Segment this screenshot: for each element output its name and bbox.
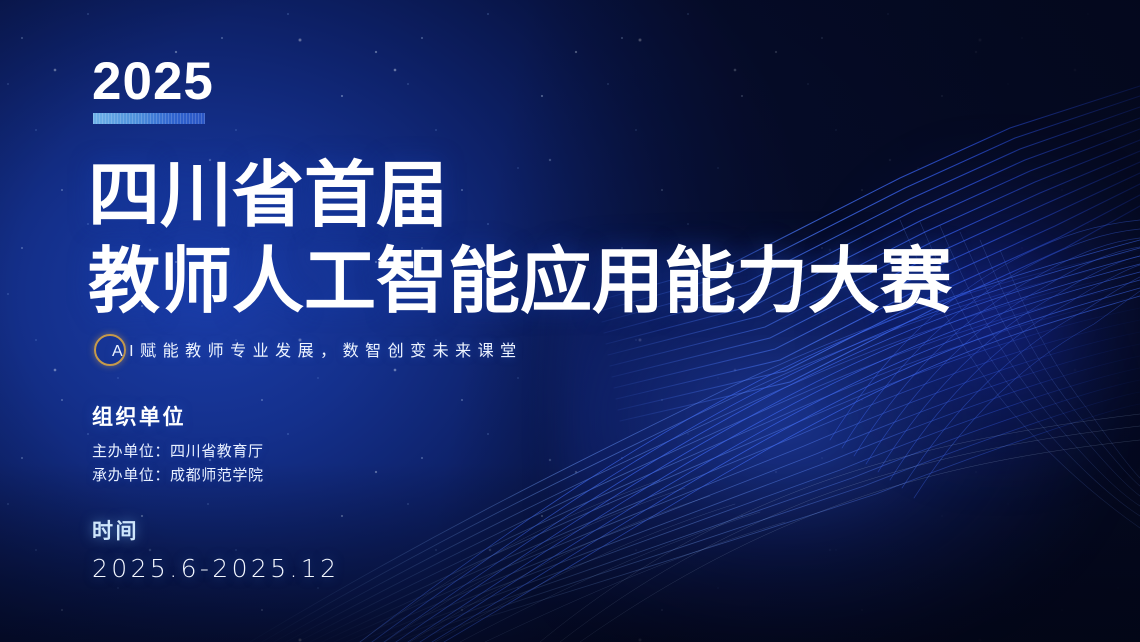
organizer-section: 组织单位 主办单位：四川省教育厅 承办单位：成都师范学院: [92, 404, 264, 488]
organizer-line-undertaker: 承办单位：成都师范学院: [92, 464, 264, 488]
event-poster: 2025 四川省首届 教师人工智能应用能力大赛 AI赋能教师专业发展，数智创变未…: [0, 0, 1140, 642]
organizer-heading: 组织单位: [92, 404, 264, 431]
title-line-1: 四川省首届: [88, 160, 448, 232]
accent-bar: [93, 113, 205, 124]
subtitle-row: AI赋能教师专业发展，数智创变未来课堂: [92, 334, 523, 364]
poster-content: 2025 四川省首届 教师人工智能应用能力大赛 AI赋能教师专业发展，数智创变未…: [92, 0, 1072, 642]
time-section: 时间 2025.6-2025.12: [92, 518, 339, 584]
organizer-line-host: 主办单位：四川省教育厅: [92, 440, 264, 464]
year-label: 2025: [92, 55, 214, 108]
time-heading: 时间: [92, 518, 339, 545]
time-range: 2025.6-2025.12: [92, 554, 339, 584]
title-line-2: 教师人工智能应用能力大赛: [88, 246, 952, 318]
subtitle-text: AI赋能教师专业发展，数智创变未来课堂: [92, 337, 523, 361]
